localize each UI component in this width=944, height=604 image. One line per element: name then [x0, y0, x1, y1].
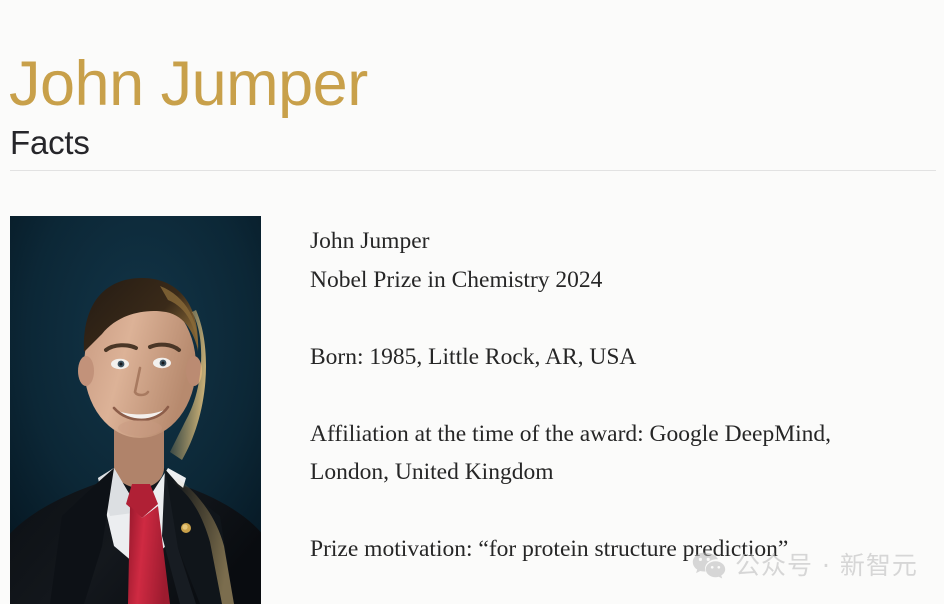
fact-line-prize: Nobel Prize in Chemistry 2024 — [310, 261, 936, 300]
fact-block: Born: 1985, Little Rock, AR, USA — [310, 338, 936, 377]
fact-line-laureate-name: John Jumper — [310, 222, 936, 261]
header-divider — [10, 170, 936, 171]
page-title: John Jumper — [9, 48, 368, 120]
section-heading-facts: Facts — [10, 123, 90, 163]
laureate-facts-text: John Jumper Nobel Prize in Chemistry 202… — [310, 222, 936, 604]
portrait-illustration — [10, 216, 261, 604]
laureate-portrait-photo — [10, 216, 261, 604]
fact-block: John Jumper Nobel Prize in Chemistry 202… — [310, 222, 936, 299]
fact-line-affiliation-1: Affiliation at the time of the award: Go… — [310, 415, 936, 454]
fact-block: Prize motivation: “for protein structure… — [310, 530, 936, 569]
fact-line-born: Born: 1985, Little Rock, AR, USA — [310, 338, 936, 377]
laureate-facts-page: John Jumper Facts — [0, 0, 944, 604]
fact-line-prize-motivation: Prize motivation: “for protein structure… — [310, 530, 936, 569]
fact-line-affiliation-2: London, United Kingdom — [310, 453, 936, 492]
fact-block: Affiliation at the time of the award: Go… — [310, 415, 936, 492]
